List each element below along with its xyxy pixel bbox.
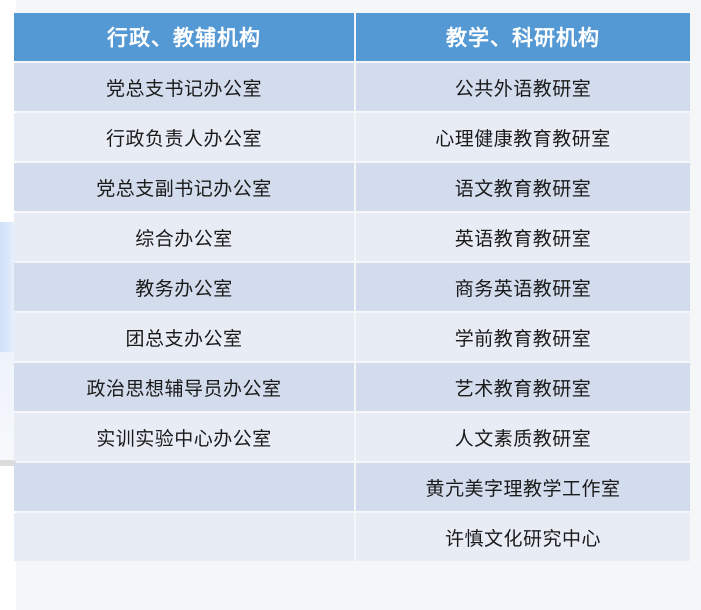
cell-admin: 党总支副书记办公室 (14, 163, 354, 211)
table-row: 实训实验中心办公室人文素质教研室 (14, 413, 690, 461)
cell-admin: 实训实验中心办公室 (14, 413, 354, 461)
organizational-units-table: 行政、教辅机构 教学、科研机构 党总支书记办公室公共外语教研室行政负责人办公室心… (12, 11, 692, 563)
cell-teaching: 商务英语教研室 (356, 263, 690, 311)
cell-admin (14, 463, 354, 511)
cell-teaching: 心理健康教育教研室 (356, 113, 690, 161)
cell-teaching: 黄亢美字理教学工作室 (356, 463, 690, 511)
table-row: 许慎文化研究中心 (14, 513, 690, 561)
cell-admin: 政治思想辅导员办公室 (14, 363, 354, 411)
cell-teaching: 许慎文化研究中心 (356, 513, 690, 561)
table-row: 黄亢美字理教学工作室 (14, 463, 690, 511)
cell-admin: 行政负责人办公室 (14, 113, 354, 161)
cell-admin: 党总支书记办公室 (14, 63, 354, 111)
table-row: 教务办公室商务英语教研室 (14, 263, 690, 311)
organizational-units-table-container: 行政、教辅机构 教学、科研机构 党总支书记办公室公共外语教研室行政负责人办公室心… (14, 13, 688, 561)
cell-teaching: 语文教育教研室 (356, 163, 690, 211)
column-header-teaching: 教学、科研机构 (356, 13, 690, 61)
cell-teaching: 学前教育教研室 (356, 313, 690, 361)
cell-admin (14, 513, 354, 561)
column-header-admin: 行政、教辅机构 (14, 13, 354, 61)
cell-admin: 教务办公室 (14, 263, 354, 311)
cell-admin: 综合办公室 (14, 213, 354, 261)
table-header-row: 行政、教辅机构 教学、科研机构 (14, 13, 690, 61)
table-row: 综合办公室英语教育教研室 (14, 213, 690, 261)
table-row: 党总支副书记办公室语文教育教研室 (14, 163, 690, 211)
cell-teaching: 人文素质教研室 (356, 413, 690, 461)
cell-teaching: 公共外语教研室 (356, 63, 690, 111)
table-row: 行政负责人办公室心理健康教育教研室 (14, 113, 690, 161)
table-row: 党总支书记办公室公共外语教研室 (14, 63, 690, 111)
table-body: 党总支书记办公室公共外语教研室行政负责人办公室心理健康教育教研室党总支副书记办公… (14, 63, 690, 561)
cell-admin: 团总支办公室 (14, 313, 354, 361)
cell-teaching: 艺术教育教研室 (356, 363, 690, 411)
table-header: 行政、教辅机构 教学、科研机构 (14, 13, 690, 61)
table-row: 团总支办公室学前教育教研室 (14, 313, 690, 361)
table-row: 政治思想辅导员办公室艺术教育教研室 (14, 363, 690, 411)
cell-teaching: 英语教育教研室 (356, 213, 690, 261)
